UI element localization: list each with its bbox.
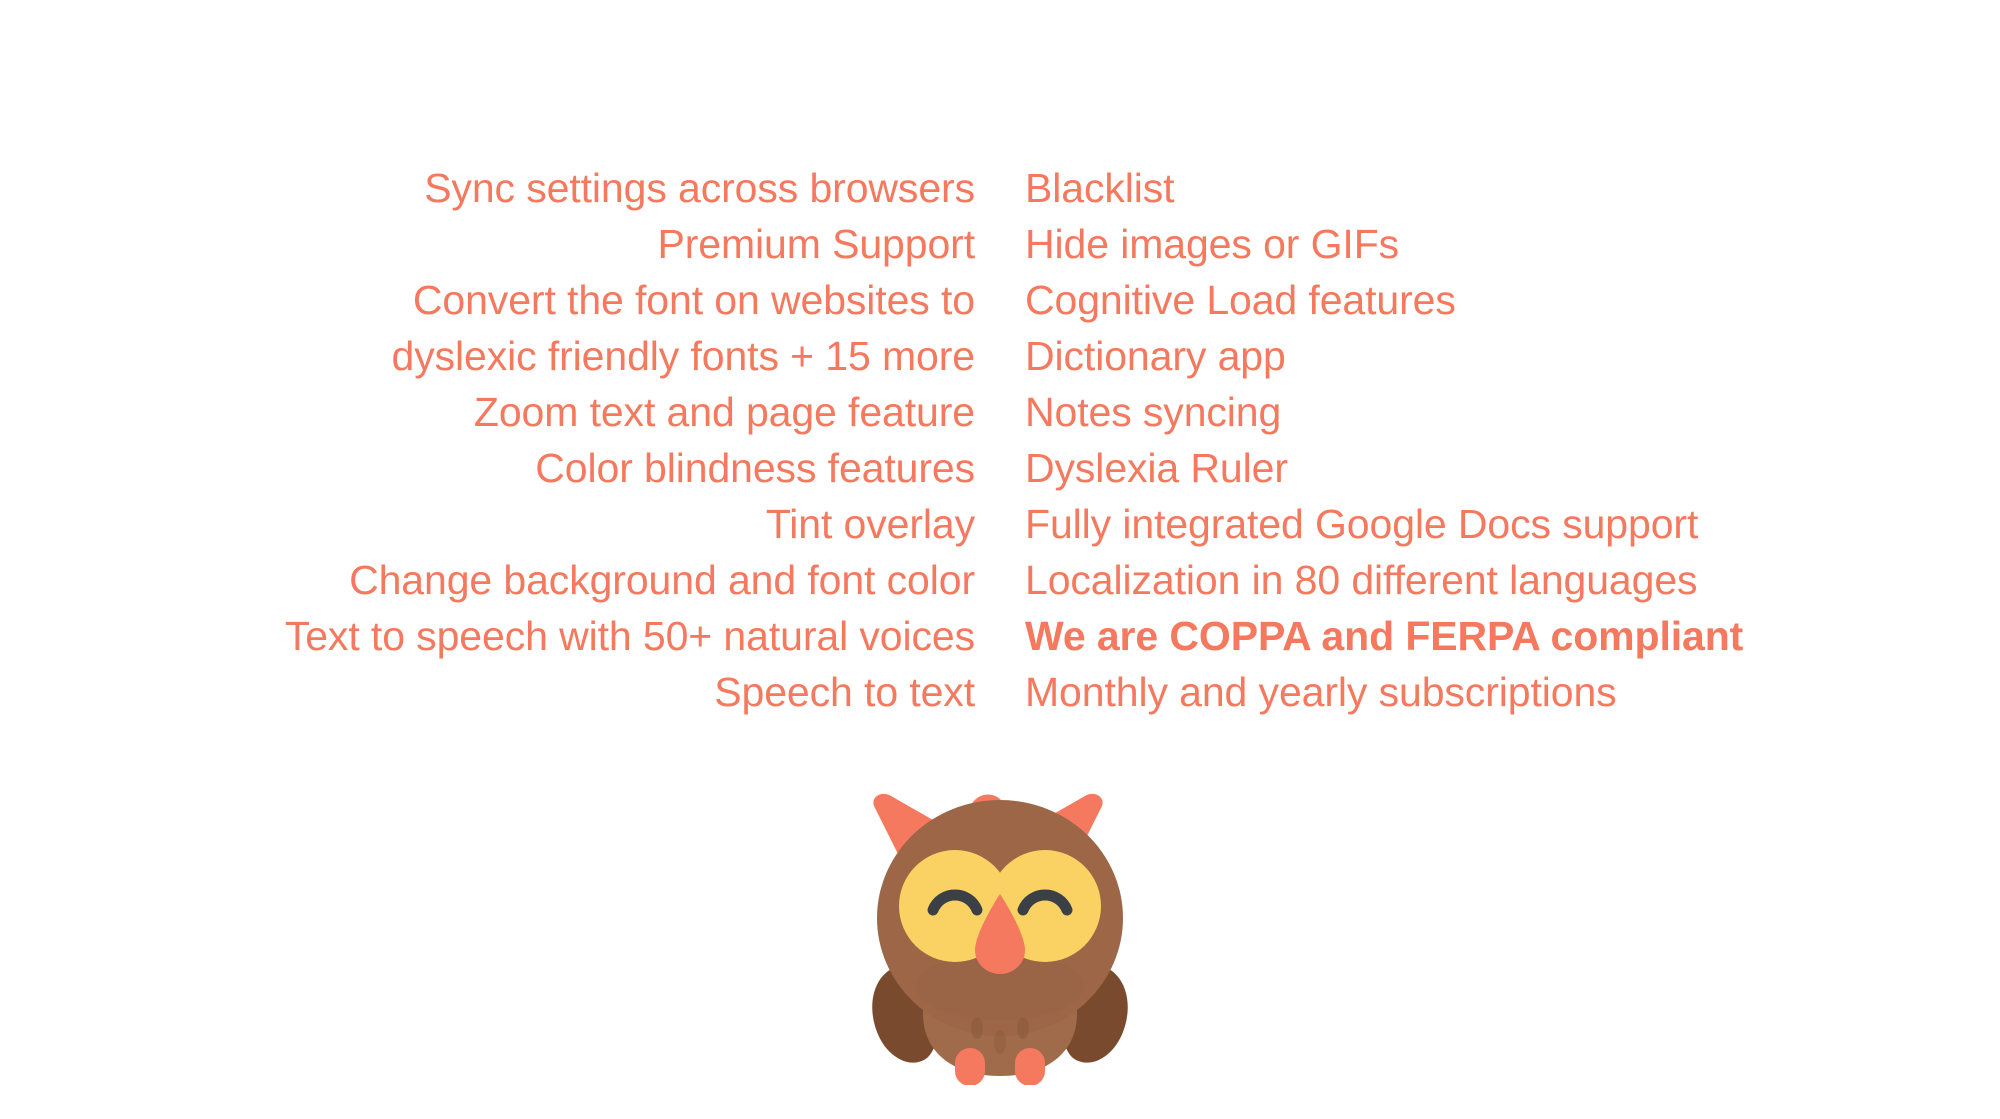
feature-item: Change background and font color xyxy=(349,552,975,608)
feature-item: Zoom text and page feature xyxy=(474,384,975,440)
feature-item: Premium Support xyxy=(657,216,975,272)
feature-item: Localization in 80 different languages xyxy=(1025,552,1697,608)
feature-column-left: Sync settings across browsers Premium Su… xyxy=(0,160,975,720)
feature-item: Tint overlay xyxy=(766,496,975,552)
feature-column-right: Blacklist Hide images or GIFs Cognitive … xyxy=(1025,160,1743,720)
feature-item: Color blindness features xyxy=(535,440,975,496)
feature-item: Monthly and yearly subscriptions xyxy=(1025,664,1617,720)
feature-item: Notes syncing xyxy=(1025,384,1281,440)
feature-item-highlighted: We are COPPA and FERPA compliant xyxy=(1025,608,1743,664)
feature-item: Fully integrated Google Docs support xyxy=(1025,496,1698,552)
feature-item: dyslexic friendly fonts + 15 more xyxy=(392,328,976,384)
feature-item: Dictionary app xyxy=(1025,328,1286,384)
feature-item: Sync settings across browsers xyxy=(424,160,975,216)
feature-item: Speech to text xyxy=(714,664,975,720)
feature-item: Blacklist xyxy=(1025,160,1174,216)
owl-mascot-icon xyxy=(855,790,1145,1085)
feature-item: Text to speech with 50+ natural voices xyxy=(285,608,975,664)
feature-item: Hide images or GIFs xyxy=(1025,216,1399,272)
feature-item: Convert the font on websites to xyxy=(413,272,975,328)
feature-columns: Sync settings across browsers Premium Su… xyxy=(0,160,2000,720)
feature-item: Cognitive Load features xyxy=(1025,272,1456,328)
slide-canvas: Sync settings across browsers Premium Su… xyxy=(0,0,2000,1119)
feature-item: Dyslexia Ruler xyxy=(1025,440,1288,496)
